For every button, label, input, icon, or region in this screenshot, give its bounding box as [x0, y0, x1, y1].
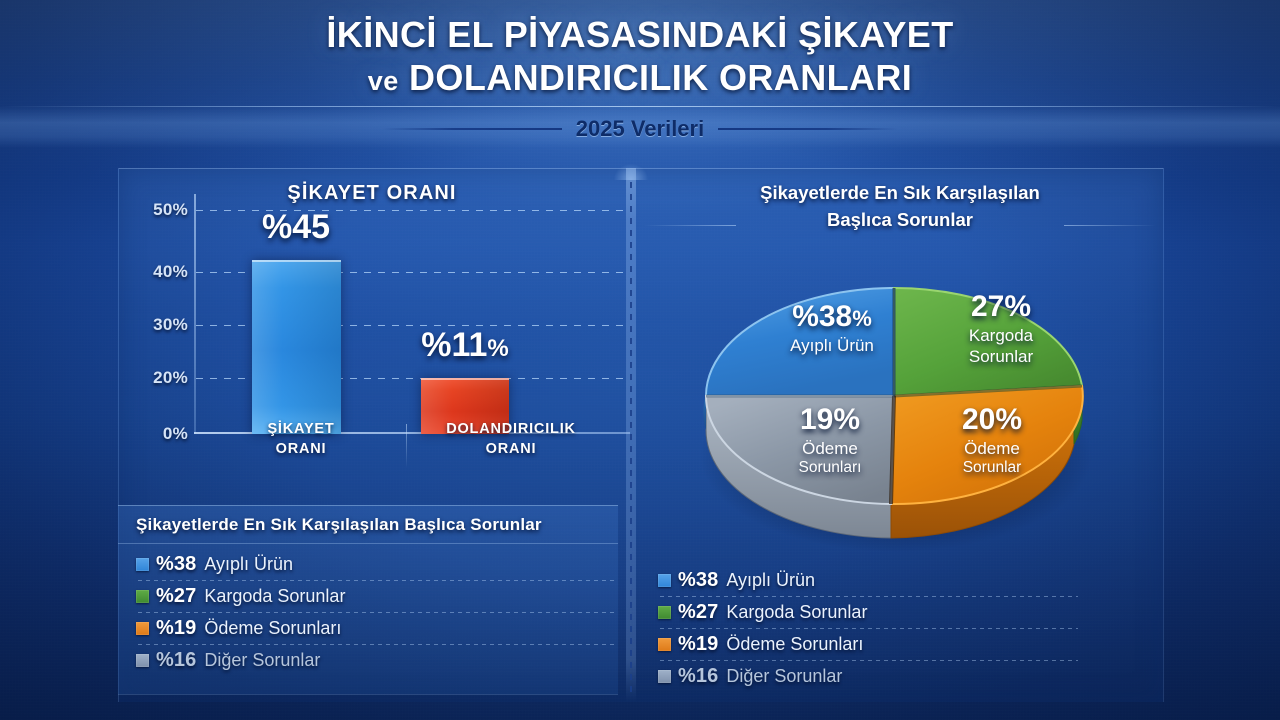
legend-swatch-gray-icon — [136, 654, 149, 667]
legend-label: Diğer Sorunlar — [204, 650, 320, 671]
left-legend-box: Şikayetlerde En Sık Karşılaşılan Başlıca… — [118, 505, 618, 695]
pie-label-odeme-sorunlari: 19% Ödeme Sorunları — [756, 403, 904, 476]
y-tick-50: 50% — [153, 200, 188, 220]
pie-label-text: Ödeme — [927, 439, 1057, 459]
legend-value: %16 — [156, 649, 196, 672]
legend-value: %19 — [156, 617, 196, 640]
pie-title-line-2: Başlıca Sorunlar — [827, 209, 973, 230]
legend-item-odeme-sorunlari[interactable]: %19 Ödeme Sorunları — [658, 629, 1078, 660]
legend-value: %19 — [678, 633, 718, 656]
bar-chart-x-labels: ŞİKAYET ORANI DOLANDIRICILIK ORANI — [196, 420, 616, 476]
y-tick-0: 0% — [163, 424, 188, 444]
y-tick-40: 40% — [153, 262, 188, 282]
bar-dolandiricilik-highlight — [421, 378, 509, 380]
bar-chart-y-axis: 50% 40% 30% 20% 0% — [134, 194, 192, 414]
title-line-2-prefix: ve — [368, 66, 399, 96]
legend-value: %27 — [156, 585, 196, 608]
pie-label-value: %38% — [742, 300, 922, 335]
legend-label: Ödeme Sorunları — [726, 634, 863, 655]
pie-chart: %38% Ayıplı Ürün 27% Kargoda Sorunlar 20… — [684, 238, 1104, 558]
legend-label: Kargoda Sorunlar — [204, 586, 345, 607]
gridline-47 — [196, 210, 624, 211]
legend-value: %38 — [156, 553, 196, 576]
x-label-separator — [406, 424, 407, 468]
pie-label-value: 27% — [926, 290, 1076, 325]
subtitle-rule-left — [382, 128, 562, 130]
legend-label: Ayıplı Ürün — [204, 554, 293, 575]
pie-label-text-2: Sorunlar — [927, 459, 1057, 477]
page-title: İKİNCİ EL PİYASASINDAKİ ŞİKAYET ve DOLAN… — [0, 0, 1280, 97]
bar-chart-plot-area: %45 %11% — [196, 194, 624, 434]
bar-chart: 50% 40% 30% 20% 0% %45 — [134, 194, 624, 414]
y-tick-20: 20% — [153, 368, 188, 388]
legend-item-kargoda-sorunlar[interactable]: %27 Kargoda Sorunlar — [136, 581, 618, 612]
legend-label: Diğer Sorunlar — [726, 666, 842, 687]
panel-divider — [626, 168, 636, 702]
pie-title-rule-left — [644, 225, 736, 226]
legend-label: Ayıplı Ürün — [726, 570, 815, 591]
pie-label-kargoda-sorunlar: 27% Kargoda Sorunlar — [926, 290, 1076, 366]
left-legend-title: Şikayetlerde En Sık Karşılaşılan Başlıca… — [118, 506, 618, 544]
right-legend-list: %38 Ayıplı Ürün %27 Kargoda Sorunlar %19… — [658, 560, 1078, 692]
bar-sikayet-highlight — [252, 260, 341, 262]
legend-label: Ödeme Sorunları — [204, 618, 341, 639]
right-column: Şikayetlerde En Sık Karşılaşılan Başlıca… — [636, 168, 1164, 702]
pie-label-text-2: Sorunları — [756, 459, 904, 477]
pie-title-rule-right — [1064, 225, 1156, 226]
header: İKİNCİ EL PİYASASINDAKİ ŞİKAYET ve DOLAN… — [0, 0, 1280, 160]
pie-label-text: Ayıplı Ürün — [742, 336, 922, 356]
legend-swatch-green-icon — [658, 606, 671, 619]
subtitle-rule-right — [718, 128, 898, 130]
legend-value: %38 — [678, 569, 718, 592]
left-column: ŞİKAYET ORANI 50% 40% 30% 20% 0% %45 — [118, 168, 626, 702]
pie-title-line-1: Şikayetlerde En Sık Karşılaşılan — [760, 182, 1040, 203]
bar-sikayet-value: %45 — [262, 208, 330, 247]
legend-value: %16 — [678, 665, 718, 688]
legend-swatch-orange-icon — [136, 622, 149, 635]
subtitle-text: 2025 Verileri — [576, 116, 704, 142]
left-legend-list: %38 Ayıplı Ürün %27 Kargoda Sorunlar %19… — [118, 544, 618, 676]
subtitle-row: 2025 Verileri — [0, 112, 1280, 146]
legend-label: Kargoda Sorunlar — [726, 602, 867, 623]
x-label-dolandiricilik: DOLANDIRICILIK ORANI — [406, 420, 616, 476]
legend-swatch-green-icon — [136, 590, 149, 603]
pie-label-odeme-sorunlar: 20% Ödeme Sorunlar — [927, 403, 1057, 476]
pie-label-ayipli-urun: %38% Ayıplı Ürün — [742, 300, 922, 356]
legend-swatch-orange-icon — [658, 638, 671, 651]
x-label-sikayet: ŞİKAYET ORANI — [196, 420, 406, 476]
pie-label-text: Kargoda — [926, 326, 1076, 346]
bar-dolandiricilik-value: %11% — [421, 326, 509, 365]
legend-item-ayipli-urun[interactable]: %38 Ayıplı Ürün — [658, 565, 1078, 596]
pie-label-value: 20% — [927, 403, 1057, 438]
pie-chart-svg — [684, 238, 1104, 558]
legend-item-odeme-sorunlari[interactable]: %19 Ödeme Sorunları — [136, 613, 618, 644]
legend-item-ayipli-urun[interactable]: %38 Ayıplı Ürün — [136, 549, 618, 580]
title-line-2-main: DOLANDIRICILIK ORANLARI — [409, 57, 912, 98]
legend-item-diger-sorunlar[interactable]: %16 Diğer Sorunlar — [658, 661, 1078, 692]
legend-value: %27 — [678, 601, 718, 624]
title-line-1: İKİNCİ EL PİYASASINDAKİ ŞİKAYET — [0, 16, 1280, 54]
title-line-2: ve DOLANDIRICILIK ORANLARI — [0, 59, 1280, 97]
legend-swatch-blue-icon — [658, 574, 671, 587]
bar-sikayet-body — [252, 260, 341, 434]
legend-swatch-blue-icon — [136, 558, 149, 571]
y-tick-30: 30% — [153, 315, 188, 335]
bar-sikayet — [252, 260, 341, 434]
pie-label-value: 19% — [756, 403, 904, 438]
legend-swatch-gray-icon — [658, 670, 671, 683]
pie-label-text: Ödeme — [756, 439, 904, 459]
legend-item-diger-sorunlar[interactable]: %16 Diğer Sorunlar — [136, 645, 618, 676]
pie-label-text-2: Sorunlar — [926, 347, 1076, 367]
legend-item-kargoda-sorunlar[interactable]: %27 Kargoda Sorunlar — [658, 597, 1078, 628]
